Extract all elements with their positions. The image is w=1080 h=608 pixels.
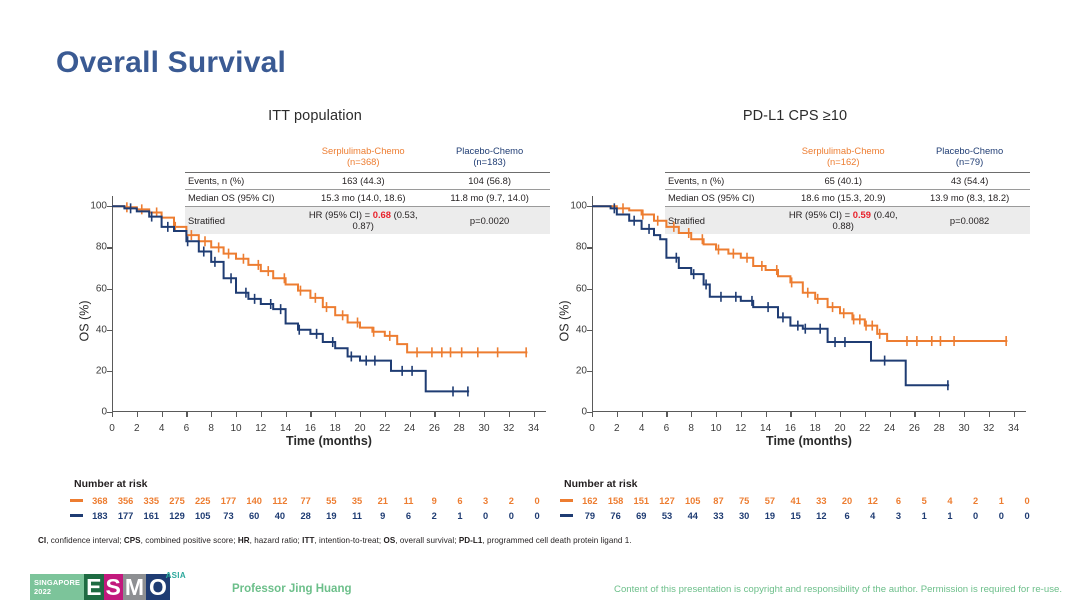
nar-cell: 77 [293, 496, 319, 506]
x-tick-label: 28 [934, 423, 945, 434]
y-tick-label: 0 [101, 407, 107, 418]
row-label-events: Events, n (%) [185, 172, 297, 189]
nar-cell: 76 [603, 511, 629, 521]
nar-cell: 33 [808, 496, 834, 506]
plot-area-cps: 0204060801000246810121416182022242628303… [592, 196, 1026, 412]
km-step-curve [592, 206, 949, 385]
x-tick-mark [865, 412, 866, 417]
nar-cell: 3 [886, 511, 912, 521]
x-tick-mark [509, 412, 510, 417]
nar-cell: 40 [267, 511, 293, 521]
nar-cell: 0 [473, 511, 499, 521]
nar-cell: 73 [216, 511, 242, 521]
nar-cell: 35 [344, 496, 370, 506]
y-tick-label: 40 [96, 324, 107, 335]
x-tick-mark [741, 412, 742, 417]
stats-header-row: Serplulimab-Chemo (n=368) Placebo-Chemo … [185, 142, 550, 171]
x-tick-label: 26 [909, 423, 920, 434]
nar-cell: 75 [731, 496, 757, 506]
x-tick-label: 18 [810, 423, 821, 434]
x-tick-mark [666, 412, 667, 417]
x-tick-mark [840, 412, 841, 417]
x-tick-mark [236, 412, 237, 417]
nar-cell: 87 [706, 496, 732, 506]
legend-swatch-orange-icon [560, 499, 573, 502]
number-at-risk-title: Number at risk [560, 478, 1040, 490]
nar-cell: 9 [421, 496, 447, 506]
nar-cell: 69 [628, 511, 654, 521]
nar-values-arm-a: 16215815112710587755741332012654210 [577, 496, 1040, 506]
x-tick-mark [766, 412, 767, 417]
nar-cell: 28 [293, 511, 319, 521]
arm-b-name: Placebo-Chemo [456, 145, 523, 156]
nar-cell: 2 [963, 496, 989, 506]
x-tick-label: 24 [404, 423, 415, 434]
nar-cell: 5 [911, 496, 937, 506]
esmo-wordmark: E S M O ASIA [84, 574, 170, 600]
x-tick-label: 16 [785, 423, 796, 434]
nar-cell: 105 [680, 496, 706, 506]
arm-a-name: Serplulimab-Chemo [802, 145, 885, 156]
x-tick-label: 12 [735, 423, 746, 434]
x-tick-label: 30 [478, 423, 489, 434]
row-label-events: Events, n (%) [665, 172, 777, 189]
y-axis-label-cps: OS (%) [557, 301, 571, 342]
copyright-notice: Content of this presentation is copyrigh… [614, 584, 1062, 595]
y-tick-mark [107, 330, 112, 331]
nar-cell: 225 [190, 496, 216, 506]
x-tick-label: 8 [208, 423, 214, 434]
x-tick-label: 14 [760, 423, 771, 434]
page-title: Overall Survival [56, 46, 286, 80]
x-tick-label: 12 [255, 423, 266, 434]
x-tick-label: 16 [305, 423, 316, 434]
nar-cell: 129 [164, 511, 190, 521]
y-tick-label: 20 [576, 365, 587, 376]
nar-cell: 1 [989, 496, 1015, 506]
x-tick-mark [964, 412, 965, 417]
nar-cell: 20 [834, 496, 860, 506]
nar-cell: 1 [937, 511, 963, 521]
nar-cell: 11 [344, 511, 370, 521]
nar-cell: 12 [860, 496, 886, 506]
x-tick-mark [360, 412, 361, 417]
arm-a-name: Serplulimab-Chemo [322, 145, 405, 156]
nar-values-arm-b: 7976695344333019151264311000 [577, 511, 1040, 521]
nar-cell: 0 [524, 511, 550, 521]
x-tick-label: 14 [280, 423, 291, 434]
x-tick-mark [691, 412, 692, 417]
nar-cell: 19 [318, 511, 344, 521]
logo-letter-e: E [84, 574, 103, 600]
nar-cell: 0 [1014, 511, 1040, 521]
nar-cell: 19 [757, 511, 783, 521]
panel-title-cps: PD-L1 CPS ≥10 [520, 108, 1030, 124]
nar-cell: 1 [911, 511, 937, 521]
legend-swatch-navy-icon [560, 514, 573, 517]
stats-header-blank [665, 142, 777, 171]
y-tick-label: 80 [576, 242, 587, 253]
panel-itt-population: ITT population Serplulimab-Chemo (n=368)… [40, 108, 550, 478]
x-tick-label: 32 [503, 423, 514, 434]
nar-cell: 4 [860, 511, 886, 521]
nar-cell: 30 [731, 511, 757, 521]
y-tick-mark [107, 247, 112, 248]
y-tick-mark [587, 206, 592, 207]
x-tick-mark [592, 412, 593, 417]
x-tick-label: 26 [429, 423, 440, 434]
x-tick-label: 10 [230, 423, 241, 434]
x-tick-label: 6 [664, 423, 670, 434]
y-tick-label: 60 [576, 283, 587, 294]
logo-asia-label: ASIA [166, 571, 186, 580]
number-at-risk-itt: Number at risk 3683563352752251771401127… [70, 478, 550, 523]
nar-cell: 335 [138, 496, 164, 506]
arm-b-n: (n=79) [956, 156, 983, 167]
stats-header-arm-a: Serplulimab-Chemo (n=162) [777, 142, 909, 171]
km-step-curve [592, 206, 1007, 341]
stats-header-arm-b: Placebo-Chemo (n=79) [909, 142, 1030, 171]
x-tick-mark [112, 412, 113, 417]
presenter-name: Professor Jing Huang [232, 583, 352, 595]
y-tick-mark [587, 330, 592, 331]
nar-cell: 275 [164, 496, 190, 506]
x-tick-label: 28 [454, 423, 465, 434]
nar-cell: 0 [524, 496, 550, 506]
x-tick-mark [914, 412, 915, 417]
nar-cell: 0 [989, 511, 1015, 521]
km-chart-itt: OS (%) 020406080100024681012141618202224… [78, 196, 546, 446]
x-tick-mark [459, 412, 460, 417]
y-tick-label: 60 [96, 283, 107, 294]
x-tick-mark [1014, 412, 1015, 417]
y-tick-mark [587, 247, 592, 248]
x-tick-label: 24 [884, 423, 895, 434]
y-tick-label: 0 [581, 407, 587, 418]
y-tick-mark [107, 206, 112, 207]
x-tick-mark [162, 412, 163, 417]
nar-cell: 0 [1014, 496, 1040, 506]
nar-cell: 127 [654, 496, 680, 506]
x-tick-label: 4 [639, 423, 645, 434]
logo-letter-s: S [104, 574, 123, 600]
arm-b-name: Placebo-Chemo [936, 145, 1003, 156]
logo-year: 2022 [34, 587, 80, 596]
x-tick-mark [642, 412, 643, 417]
km-curves-cps [592, 196, 1026, 412]
number-at-risk-cps: Number at risk 1621581511271058775574133… [560, 478, 1040, 523]
y-tick-mark [107, 371, 112, 372]
nar-cell: 55 [318, 496, 344, 506]
singapore-2022-badge: SINGAPORE 2022 [30, 574, 84, 600]
nar-values-arm-b: 1831771611291057360402819119621000 [87, 511, 550, 521]
esmo-asia-logo: SINGAPORE 2022 E S M O ASIA [30, 574, 170, 600]
nar-cell: 161 [138, 511, 164, 521]
x-tick-label: 10 [710, 423, 721, 434]
nar-cell: 60 [241, 511, 267, 521]
y-axis-label-itt: OS (%) [77, 301, 91, 342]
x-tick-label: 2 [134, 423, 140, 434]
nar-cell: 177 [113, 511, 139, 521]
nar-cell: 0 [499, 511, 525, 521]
y-tick-mark [587, 371, 592, 372]
nar-cell: 9 [370, 511, 396, 521]
row-events-arm-a: 163 (44.3) [297, 172, 429, 189]
x-tick-label: 0 [109, 423, 115, 434]
nar-cell: 162 [577, 496, 603, 506]
y-tick-label: 40 [576, 324, 587, 335]
nar-cell: 140 [241, 496, 267, 506]
number-at-risk-row-arm-b: 7976695344333019151264311000 [560, 508, 1040, 523]
x-tick-label: 4 [159, 423, 165, 434]
x-axis-label-itt: Time (months) [112, 434, 546, 448]
x-tick-mark [211, 412, 212, 417]
nar-cell: 183 [87, 511, 113, 521]
y-tick-label: 80 [96, 242, 107, 253]
x-tick-label: 8 [688, 423, 694, 434]
x-tick-mark [286, 412, 287, 417]
x-tick-mark [335, 412, 336, 417]
x-tick-label: 22 [859, 423, 870, 434]
footer-bar: SINGAPORE 2022 E S M O ASIA Professor Ji… [0, 570, 1080, 608]
number-at-risk-title: Number at risk [70, 478, 550, 490]
nar-cell: 21 [370, 496, 396, 506]
nar-cell: 6 [886, 496, 912, 506]
x-tick-label: 32 [983, 423, 994, 434]
legend-swatch-navy-icon [70, 514, 83, 517]
logo-letter-m: M [123, 574, 146, 600]
nar-cell: 33 [706, 511, 732, 521]
panel-pdl1-cps: PD-L1 CPS ≥10 Serplulimab-Chemo (n=162) … [520, 108, 1030, 478]
stats-header-blank [185, 142, 297, 171]
nar-cell: 2 [499, 496, 525, 506]
x-tick-label: 0 [589, 423, 595, 434]
stats-header-arm-a: Serplulimab-Chemo (n=368) [297, 142, 429, 171]
nar-cell: 151 [628, 496, 654, 506]
nar-cell: 4 [937, 496, 963, 506]
abbreviations-footnote: CI, confidence interval; CPS, combined p… [38, 536, 632, 545]
nar-cell: 368 [87, 496, 113, 506]
x-tick-mark [716, 412, 717, 417]
plot-area-itt: 0204060801000246810121416182022242628303… [112, 196, 546, 412]
number-at-risk-row-arm-a: 16215815112710587755741332012654210 [560, 493, 1040, 508]
x-tick-mark [385, 412, 386, 417]
km-chart-cps: OS (%) 020406080100024681012141618202224… [558, 196, 1026, 446]
nar-values-arm-a: 368356335275225177140112775535211196320 [87, 496, 550, 506]
km-step-curve [112, 206, 469, 391]
x-axis-label-cps: Time (months) [592, 434, 1026, 448]
nar-cell: 6 [834, 511, 860, 521]
nar-cell: 6 [447, 496, 473, 506]
table-row-events: Events, n (%) 163 (44.3) 104 (56.8) [185, 172, 550, 189]
nar-cell: 11 [396, 496, 422, 506]
x-tick-mark [434, 412, 435, 417]
nar-cell: 41 [783, 496, 809, 506]
y-tick-mark [107, 289, 112, 290]
number-at-risk-row-arm-b: 1831771611291057360402819119621000 [70, 508, 550, 523]
nar-cell: 15 [783, 511, 809, 521]
x-tick-mark [261, 412, 262, 417]
x-tick-mark [484, 412, 485, 417]
x-tick-mark [890, 412, 891, 417]
x-tick-mark [137, 412, 138, 417]
nar-cell: 57 [757, 496, 783, 506]
x-tick-label: 34 [1008, 423, 1019, 434]
x-tick-label: 6 [184, 423, 190, 434]
nar-cell: 105 [190, 511, 216, 521]
nar-cell: 158 [603, 496, 629, 506]
logo-city: SINGAPORE [34, 578, 80, 587]
x-tick-mark [989, 412, 990, 417]
nar-cell: 1 [447, 511, 473, 521]
panel-title-itt: ITT population [40, 108, 550, 124]
arm-a-n: (n=368) [347, 156, 380, 167]
y-tick-mark [587, 289, 592, 290]
stats-header-row: Serplulimab-Chemo (n=162) Placebo-Chemo … [665, 142, 1030, 171]
table-row-events: Events, n (%) 65 (40.1) 43 (54.4) [665, 172, 1030, 189]
nar-cell: 79 [577, 511, 603, 521]
x-tick-label: 2 [614, 423, 620, 434]
x-tick-mark [815, 412, 816, 417]
legend-swatch-orange-icon [70, 499, 83, 502]
nar-cell: 12 [808, 511, 834, 521]
x-tick-label: 20 [834, 423, 845, 434]
arm-a-n: (n=162) [827, 156, 860, 167]
nar-cell: 44 [680, 511, 706, 521]
x-tick-label: 18 [330, 423, 341, 434]
x-tick-mark [939, 412, 940, 417]
y-tick-label: 20 [96, 365, 107, 376]
nar-cell: 177 [216, 496, 242, 506]
nar-cell: 2 [421, 511, 447, 521]
nar-cell: 53 [654, 511, 680, 521]
x-tick-label: 20 [354, 423, 365, 434]
row-events-arm-a: 65 (40.1) [777, 172, 909, 189]
nar-cell: 112 [267, 496, 293, 506]
x-tick-mark [310, 412, 311, 417]
x-tick-mark [186, 412, 187, 417]
x-tick-label: 30 [958, 423, 969, 434]
x-tick-mark [617, 412, 618, 417]
x-tick-mark [790, 412, 791, 417]
number-at-risk-row-arm-a: 368356335275225177140112775535211196320 [70, 493, 550, 508]
km-curves-itt [112, 196, 546, 412]
x-tick-mark [410, 412, 411, 417]
x-tick-label: 22 [379, 423, 390, 434]
arm-b-n: (n=183) [473, 156, 506, 167]
y-tick-label: 100 [570, 201, 587, 212]
nar-cell: 3 [473, 496, 499, 506]
row-events-arm-b: 43 (54.4) [909, 172, 1030, 189]
nar-cell: 6 [396, 511, 422, 521]
nar-cell: 0 [963, 511, 989, 521]
y-tick-label: 100 [90, 201, 107, 212]
nar-cell: 356 [113, 496, 139, 506]
